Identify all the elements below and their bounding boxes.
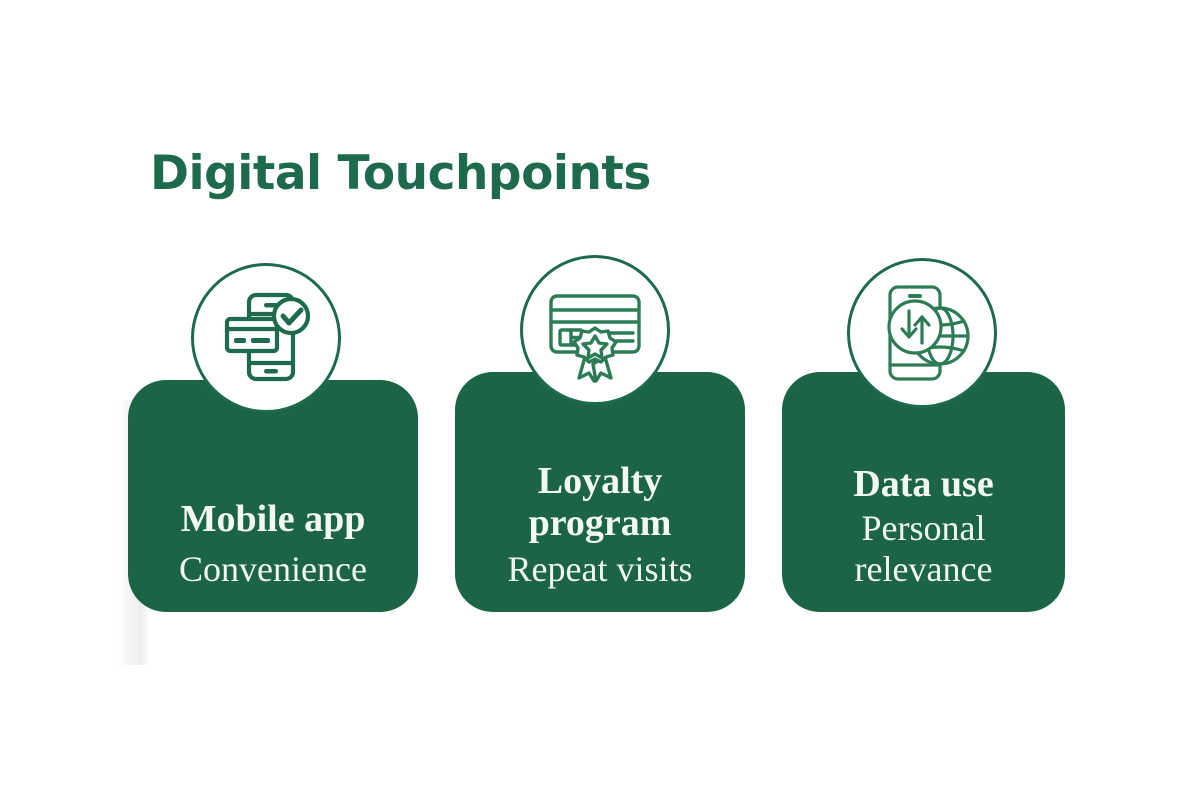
card-subtitle: Personal relevance <box>796 508 1051 590</box>
loyalty-card-award-icon <box>539 274 651 386</box>
card-body[interactable]: Mobile app Convenience <box>128 380 418 612</box>
card-subtitle: Convenience <box>179 549 367 590</box>
mobile-payment-check-icon <box>211 283 321 393</box>
card-body[interactable]: Loyalty program Repeat visits <box>455 372 745 612</box>
card-body[interactable]: Data use Personal relevance <box>782 372 1065 612</box>
touchpoint-cards: Mobile app Convenience <box>0 0 1200 800</box>
icon-badge <box>847 258 997 408</box>
mobile-data-globe-icon <box>866 277 978 389</box>
icon-badge <box>520 255 670 405</box>
card-subtitle: Repeat visits <box>508 549 693 590</box>
card-title: Mobile app <box>181 498 366 541</box>
icon-badge <box>191 263 341 413</box>
card-title: Loyalty program <box>469 460 731 545</box>
infographic-slide: Digital Touchpoints Mobile app Convenien… <box>0 0 1200 800</box>
card-title: Data use <box>853 463 993 506</box>
